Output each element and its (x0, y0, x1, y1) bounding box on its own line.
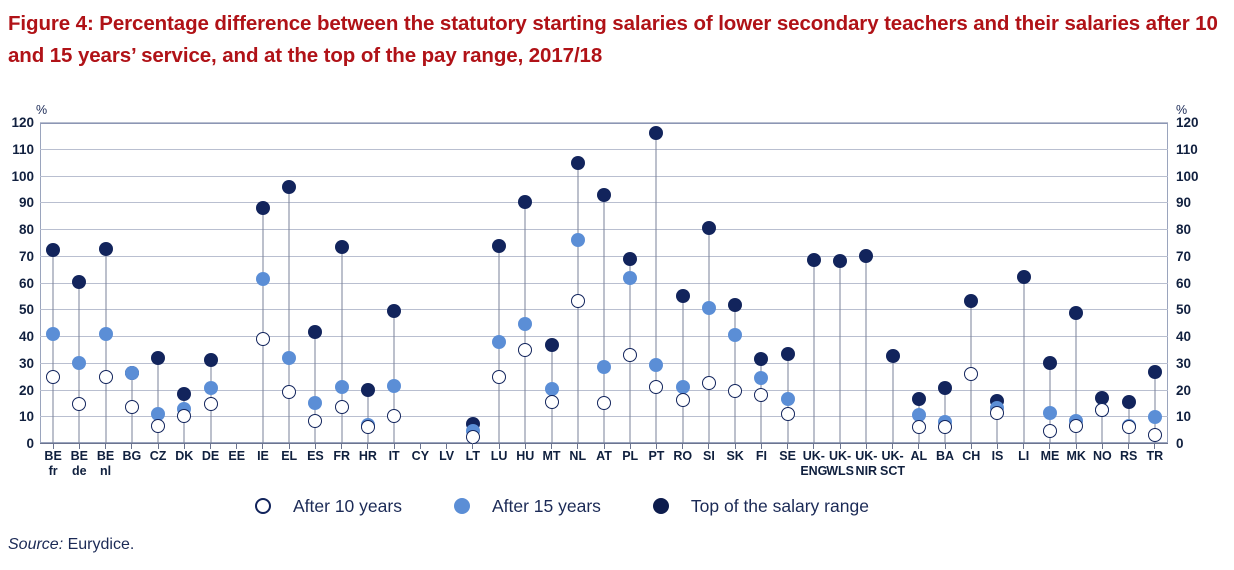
data-point-after-15-years (597, 360, 611, 374)
legend-item-after-10-years: After 10 years (255, 496, 402, 517)
source-note: Source: Eurydice. (8, 536, 134, 554)
y-tick-label-right-10: 10 (1176, 410, 1206, 423)
data-point-top-of-range (204, 353, 218, 367)
data-point-after-10-years (256, 332, 270, 346)
data-point-after-10-years (204, 397, 218, 411)
stem-line (866, 256, 867, 443)
data-point-after-10-years (728, 384, 742, 398)
stem-line (813, 260, 814, 443)
y-tick-label-left-80: 80 (4, 223, 34, 236)
legend-label-after-15-years: After 15 years (492, 496, 601, 517)
data-point-after-15-years (1043, 406, 1057, 420)
source-label: Source: (8, 536, 63, 553)
y-tick-label-left-120: 120 (4, 116, 34, 129)
data-point-after-10-years (1043, 424, 1057, 438)
data-point-after-10-years (938, 420, 952, 434)
data-point-top-of-range (282, 180, 296, 194)
y-tick-label-left-90: 90 (4, 196, 34, 209)
chart-plot-area (40, 122, 1168, 443)
x-axis-label-line1: FI (756, 449, 767, 463)
y-tick-label-right-20: 20 (1176, 384, 1206, 397)
y-tick-label-right-0: 0 (1176, 437, 1206, 450)
data-point-top-of-range (545, 338, 559, 352)
data-point-after-10-years (702, 376, 716, 390)
data-point-top-of-range (702, 221, 716, 235)
y-tick-label-left-70: 70 (4, 250, 34, 263)
x-axis-label-line2: SCT (873, 464, 913, 479)
chart-legend: After 10 years After 15 years Top of the… (255, 492, 995, 520)
y-tick-label-left-110: 110 (4, 143, 34, 156)
data-point-after-15-years (702, 301, 716, 315)
y-tick-label-left-100: 100 (4, 170, 34, 183)
gridline-100 (40, 176, 1168, 177)
y-tick-label-left-60: 60 (4, 277, 34, 290)
stem-line (1023, 277, 1024, 443)
x-axis-label-line1: LT (466, 449, 480, 463)
x-axis-label-TR: TR (1135, 449, 1175, 464)
x-axis-label-line1: SI (703, 449, 715, 463)
y-tick-label-right-70: 70 (1176, 250, 1206, 263)
data-point-after-10-years (545, 395, 559, 409)
data-point-after-15-years (387, 379, 401, 393)
x-axis-label-line1: IE (257, 449, 269, 463)
stem-line (289, 187, 290, 443)
y-tick-label-right-60: 60 (1176, 277, 1206, 290)
y-tick-label-right-30: 30 (1176, 357, 1206, 370)
data-point-after-10-years (308, 414, 322, 428)
data-point-top-of-range (571, 156, 585, 170)
x-axis-label-line1: LI (1018, 449, 1029, 463)
x-axis-label-line2: nl (86, 464, 126, 479)
stem-line (735, 305, 736, 443)
light-blue-circle-marker-icon (454, 498, 470, 514)
data-point-top-of-range (676, 289, 690, 303)
data-point-after-10-years (781, 407, 795, 421)
data-point-after-15-years (99, 327, 113, 341)
data-point-top-of-range (256, 201, 270, 215)
data-point-after-10-years (282, 385, 296, 399)
data-point-after-10-years (1148, 428, 1162, 442)
data-point-after-10-years (466, 430, 480, 444)
y-tick-label-left-0: 0 (4, 437, 34, 450)
data-point-top-of-range (964, 294, 978, 308)
x-axis-label-line1: IS (992, 449, 1004, 463)
stem-line (708, 228, 709, 443)
data-point-after-15-years (781, 392, 795, 406)
y-tick-label-left-50: 50 (4, 303, 34, 316)
y-tick-label-right-40: 40 (1176, 330, 1206, 343)
data-point-after-10-years (912, 420, 926, 434)
data-point-after-15-years (1148, 410, 1162, 424)
data-point-after-15-years (335, 380, 349, 394)
data-point-after-15-years (545, 382, 559, 396)
data-point-top-of-range (361, 383, 375, 397)
stem-line (394, 311, 395, 443)
data-point-top-of-range (886, 349, 900, 363)
stem-line (105, 249, 106, 443)
y-tick-label-left-30: 30 (4, 357, 34, 370)
stem-line (53, 250, 54, 443)
data-point-top-of-range (1017, 270, 1031, 284)
stem-line (367, 390, 368, 444)
data-point-after-10-years (177, 409, 191, 423)
data-point-after-10-years (597, 396, 611, 410)
data-point-top-of-range (335, 240, 349, 254)
dark-navy-circle-marker-icon (653, 498, 669, 514)
data-point-after-10-years (125, 400, 139, 414)
data-point-top-of-range (492, 239, 506, 253)
x-axis-label-line1: TR (1147, 449, 1164, 463)
y-tick-label-right-110: 110 (1176, 143, 1206, 156)
data-point-top-of-range (912, 392, 926, 406)
data-point-after-10-years (335, 400, 349, 414)
data-point-top-of-range (807, 253, 821, 267)
data-point-after-10-years (571, 294, 585, 308)
gridline-120 (40, 122, 1168, 123)
legend-label-after-10-years: After 10 years (293, 496, 402, 517)
legend-item-after-15-years: After 15 years (454, 496, 601, 517)
data-point-top-of-range (1148, 365, 1162, 379)
data-point-top-of-range (781, 347, 795, 361)
stem-line (840, 261, 841, 443)
y-tick-label-right-80: 80 (1176, 223, 1206, 236)
legend-label-top-of-salary-range: Top of the salary range (691, 496, 869, 517)
stem-line (892, 356, 893, 443)
gridline-110 (40, 149, 1168, 150)
y-tick-label-left-40: 40 (4, 330, 34, 343)
data-point-after-15-years (728, 328, 742, 342)
x-axis-label-line1: IT (389, 449, 400, 463)
stem-line (262, 208, 263, 443)
y-tick-label-right-100: 100 (1176, 170, 1206, 183)
data-point-after-15-years (518, 317, 532, 331)
y-tick-label-left-20: 20 (4, 384, 34, 397)
y-tick-label-right-120: 120 (1176, 116, 1206, 129)
stem-line (656, 133, 657, 443)
data-point-after-15-years (676, 380, 690, 394)
data-point-after-10-years (99, 370, 113, 384)
page-title: Figure 4: Percentage difference between … (8, 8, 1230, 72)
y-axis-unit-left: % (36, 103, 47, 117)
data-point-top-of-range (46, 243, 60, 257)
stem-line (682, 296, 683, 443)
y-tick-label-right-90: 90 (1176, 196, 1206, 209)
data-point-top-of-range (1122, 395, 1136, 409)
legend-item-top-of-salary-range: Top of the salary range (653, 496, 869, 517)
data-point-after-10-years (387, 409, 401, 423)
data-point-top-of-range (833, 254, 847, 268)
y-tick-label-right-50: 50 (1176, 303, 1206, 316)
data-point-top-of-range (99, 242, 113, 256)
x-axis-category-labels: BEfrBEdeBEnlBGCZDKDEEEIEELESFRHRITCYLVLT… (40, 449, 1168, 491)
data-point-after-10-years (676, 393, 690, 407)
y-tick-label-left-10: 10 (4, 410, 34, 423)
source-value: Eurydice. (63, 536, 134, 553)
data-point-after-15-years (571, 233, 585, 247)
open-circle-marker-icon (255, 498, 271, 514)
data-point-after-15-years (204, 381, 218, 395)
